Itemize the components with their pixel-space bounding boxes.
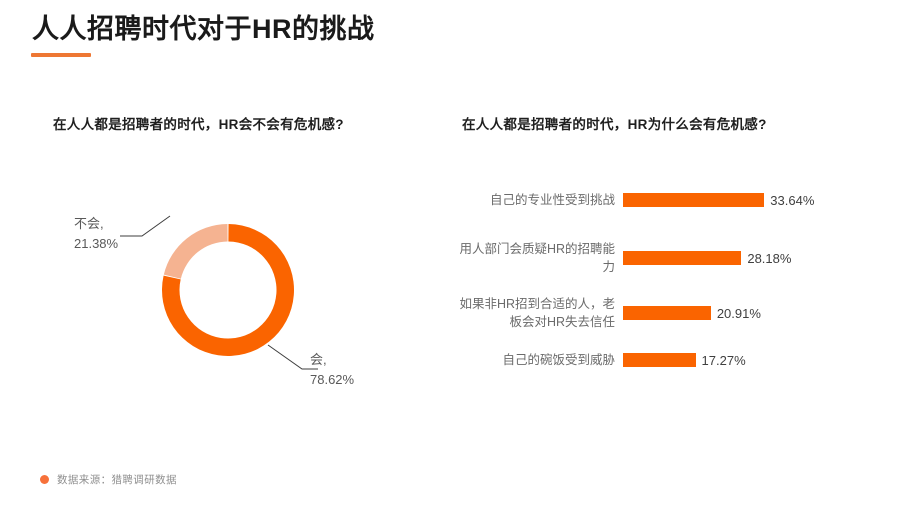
bar-track: 28.18% [623, 251, 855, 265]
bar-category-label: 用人部门会质疑HR的招聘能力 [455, 240, 623, 276]
slide-canvas: 人人招聘时代对于HR的挑战 在人人都是招聘者的时代，HR会不会有危机感? 在人人… [0, 0, 900, 506]
bar-fill [623, 193, 764, 207]
page-title: 人人招聘时代对于HR的挑战 [32, 14, 375, 45]
bar-row: 自己的专业性受到挑战33.64% [455, 191, 855, 209]
bar-track: 17.27% [623, 353, 855, 367]
bar-fill [623, 306, 711, 320]
bar-category-label: 自己的专业性受到挑战 [455, 191, 623, 209]
donut-label-no: 不会, 21.38% [74, 214, 118, 254]
donut-chart [161, 223, 295, 357]
donut-label-no-value: 21.38% [74, 234, 118, 254]
bar-fill [623, 251, 741, 265]
donut-label-no-name: 不会, [74, 214, 118, 234]
footer-source-text: 数据来源：猎聘调研数据 [57, 472, 177, 487]
bar-value-label: 20.91% [717, 306, 761, 321]
right-panel-subtitle: 在人人都是招聘者的时代，HR为什么会有危机感? [462, 113, 767, 133]
bar-value-label: 17.27% [702, 353, 746, 368]
bar-track: 33.64% [623, 193, 855, 207]
footer: 数据来源：猎聘调研数据 [40, 472, 177, 487]
donut-label-yes-value: 78.62% [310, 370, 354, 390]
bar-fill [623, 353, 696, 367]
title-underline-rule [31, 53, 91, 57]
bar-chart: 自己的专业性受到挑战33.64%用人部门会质疑HR的招聘能力28.18%如果非H… [455, 188, 855, 393]
bar-row: 用人部门会质疑HR的招聘能力28.18% [455, 240, 855, 276]
dot-icon [40, 475, 49, 484]
donut-label-yes: 会, 78.62% [310, 350, 354, 390]
donut-chart-svg [161, 223, 295, 357]
donut-label-yes-name: 会, [310, 350, 354, 370]
bar-track: 20.91% [623, 306, 855, 320]
bar-value-label: 33.64% [770, 193, 814, 208]
bar-category-label: 自己的碗饭受到威胁 [455, 351, 623, 369]
bar-row: 自己的碗饭受到威胁17.27% [455, 351, 855, 369]
left-panel-subtitle: 在人人都是招聘者的时代，HR会不会有危机感? [53, 113, 344, 133]
bar-row: 如果非HR招到合适的人，老板会对HR失去信任20.91% [455, 295, 855, 331]
bar-value-label: 28.18% [747, 251, 791, 266]
donut-leader-line-no [120, 214, 180, 244]
bar-category-label: 如果非HR招到合适的人，老板会对HR失去信任 [455, 295, 623, 331]
